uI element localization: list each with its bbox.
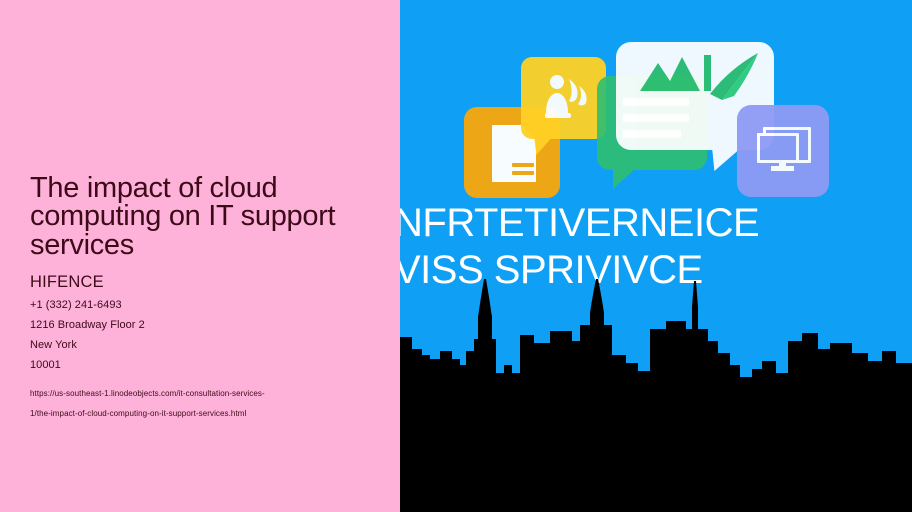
monitor-stand	[771, 166, 794, 171]
contact-street: 1216 Broadway Floor 2	[30, 315, 390, 335]
share-card: The impact of cloud computing on IT supp…	[0, 0, 912, 512]
people-glyph-icon	[543, 73, 589, 121]
document-text-line	[512, 171, 534, 175]
speech-bubble-people-icon	[521, 57, 606, 139]
contact-postal-code: 10001	[30, 355, 390, 375]
contact-city: New York	[30, 335, 390, 355]
contact-block: +1 (332) 241-6493 1216 Broadway Floor 2 …	[30, 295, 390, 375]
speech-bubble-tail	[613, 167, 637, 189]
left-content-block: The impact of cloud computing on IT supp…	[30, 174, 390, 425]
monitor-glyph-icon	[757, 127, 811, 175]
source-url-line-1: https://us-southeast-1.linodeobjects.com…	[30, 384, 360, 404]
monitor-card-icon	[737, 105, 829, 197]
brand-name: HIFENCE	[30, 272, 390, 293]
source-url[interactable]: https://us-southeast-1.linodeobjects.com…	[30, 384, 360, 425]
headline-line-1: NFRTETIVERNEICE	[400, 200, 912, 247]
right-image-panel: NFRTETIVERNEICE VISS SPRIVIVCE	[400, 0, 912, 512]
paper-plane-arrow-icon	[700, 50, 766, 110]
monitor-screen	[757, 133, 799, 163]
source-url-line-2: 1/the-impact-of-cloud-computing-on-it-su…	[30, 404, 360, 424]
page-title: The impact of cloud computing on IT supp…	[30, 174, 385, 259]
city-skyline-silhouette	[400, 277, 912, 512]
icon-cluster	[400, 0, 912, 210]
document-text-line	[512, 163, 534, 167]
contact-phone: +1 (332) 241-6493	[30, 295, 390, 315]
left-text-panel: The impact of cloud computing on IT supp…	[0, 0, 400, 512]
